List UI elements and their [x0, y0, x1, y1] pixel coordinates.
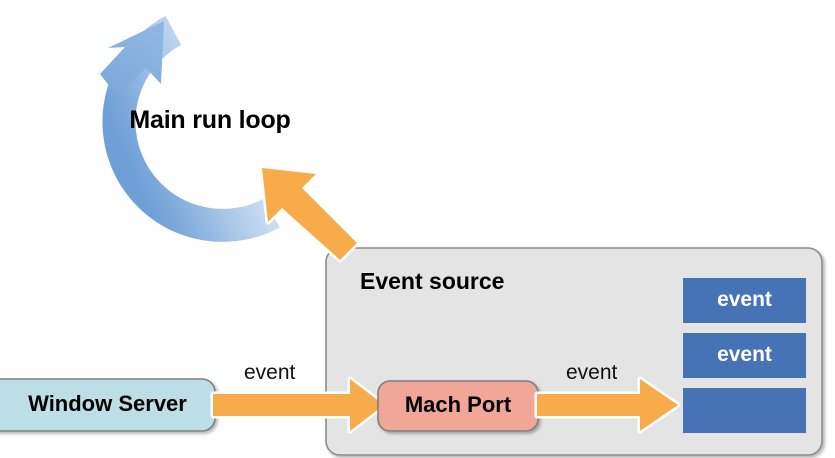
window-server-to-mach-port-arrow	[213, 379, 384, 431]
event-to-run-loop-arrow	[262, 168, 357, 260]
arrow-caption-mach-port: event	[566, 361, 617, 385]
event-queue-item-label: event	[683, 288, 806, 312]
window-server-label: Window Server	[0, 391, 215, 417]
diagram-vector-layer	[0, 0, 835, 458]
event-queue-item	[683, 388, 806, 433]
diagram-canvas: Main run loop Event source Window Server…	[0, 0, 835, 458]
mach-port-label: Mach Port	[378, 392, 538, 418]
event-queue-item-label: event	[683, 343, 806, 367]
run-loop-label: Main run loop	[0, 106, 420, 135]
event-source-title: Event source	[360, 268, 504, 295]
arrow-caption-window-server: event	[244, 361, 295, 385]
